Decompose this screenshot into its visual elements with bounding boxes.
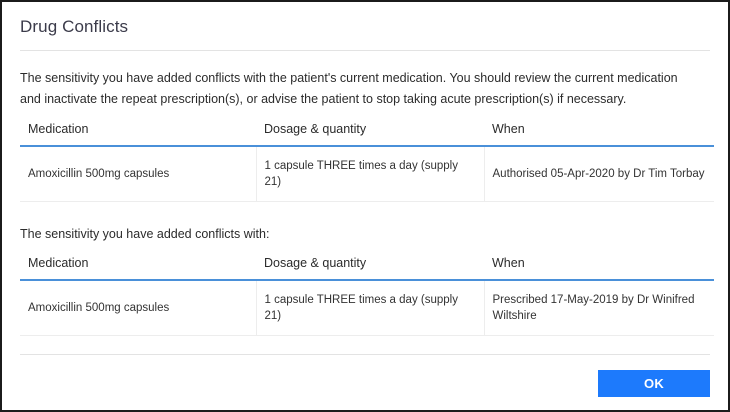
ok-button[interactable]: OK — [598, 370, 710, 397]
column-header-dosage: Dosage & quantity — [256, 256, 484, 280]
table-head: Medication Dosage & quantity When — [20, 122, 714, 146]
table-body: Amoxicillin 500mg capsules 1 capsule THR… — [20, 146, 714, 202]
cell-medication: Amoxicillin 500mg capsules — [20, 280, 256, 336]
current-medication-table: Medication Dosage & quantity When Amoxic… — [20, 122, 714, 202]
table-header-row: Medication Dosage & quantity When — [20, 256, 714, 280]
table-header-row: Medication Dosage & quantity When — [20, 122, 714, 146]
cell-medication: Amoxicillin 500mg capsules — [20, 146, 256, 202]
footer-actions: OK — [20, 355, 710, 397]
table-head: Medication Dosage & quantity When — [20, 256, 714, 280]
dialog-header: Drug Conflicts — [2, 2, 728, 38]
cell-when: Authorised 05-Apr-2020 by Dr Tim Torbay — [484, 146, 714, 202]
column-header-medication: Medication — [20, 256, 256, 280]
drug-conflicts-dialog: Drug Conflicts The sensitivity you have … — [0, 0, 730, 412]
cell-when: Prescribed 17-May-2019 by Dr Winifred Wi… — [484, 280, 714, 336]
dialog-footer: OK — [2, 354, 728, 410]
page-title: Drug Conflicts — [20, 16, 710, 38]
table-row: Amoxicillin 500mg capsules 1 capsule THR… — [20, 146, 714, 202]
column-header-dosage: Dosage & quantity — [256, 122, 484, 146]
dialog-body: The sensitivity you have added conflicts… — [2, 51, 728, 354]
table-body: Amoxicillin 500mg capsules 1 capsule THR… — [20, 280, 714, 336]
column-header-when: When — [484, 256, 714, 280]
conflicting-medication-table: Medication Dosage & quantity When Amoxic… — [20, 256, 714, 336]
column-header-when: When — [484, 122, 714, 146]
table-row: Amoxicillin 500mg capsules 1 capsule THR… — [20, 280, 714, 336]
column-header-medication: Medication — [20, 122, 256, 146]
cell-dosage: 1 capsule THREE times a day (supply 21) — [256, 146, 484, 202]
intro-paragraph: The sensitivity you have added conflicts… — [20, 68, 698, 110]
cell-dosage: 1 capsule THREE times a day (supply 21) — [256, 280, 484, 336]
conflict-section-label: The sensitivity you have added conflicts… — [20, 225, 710, 244]
